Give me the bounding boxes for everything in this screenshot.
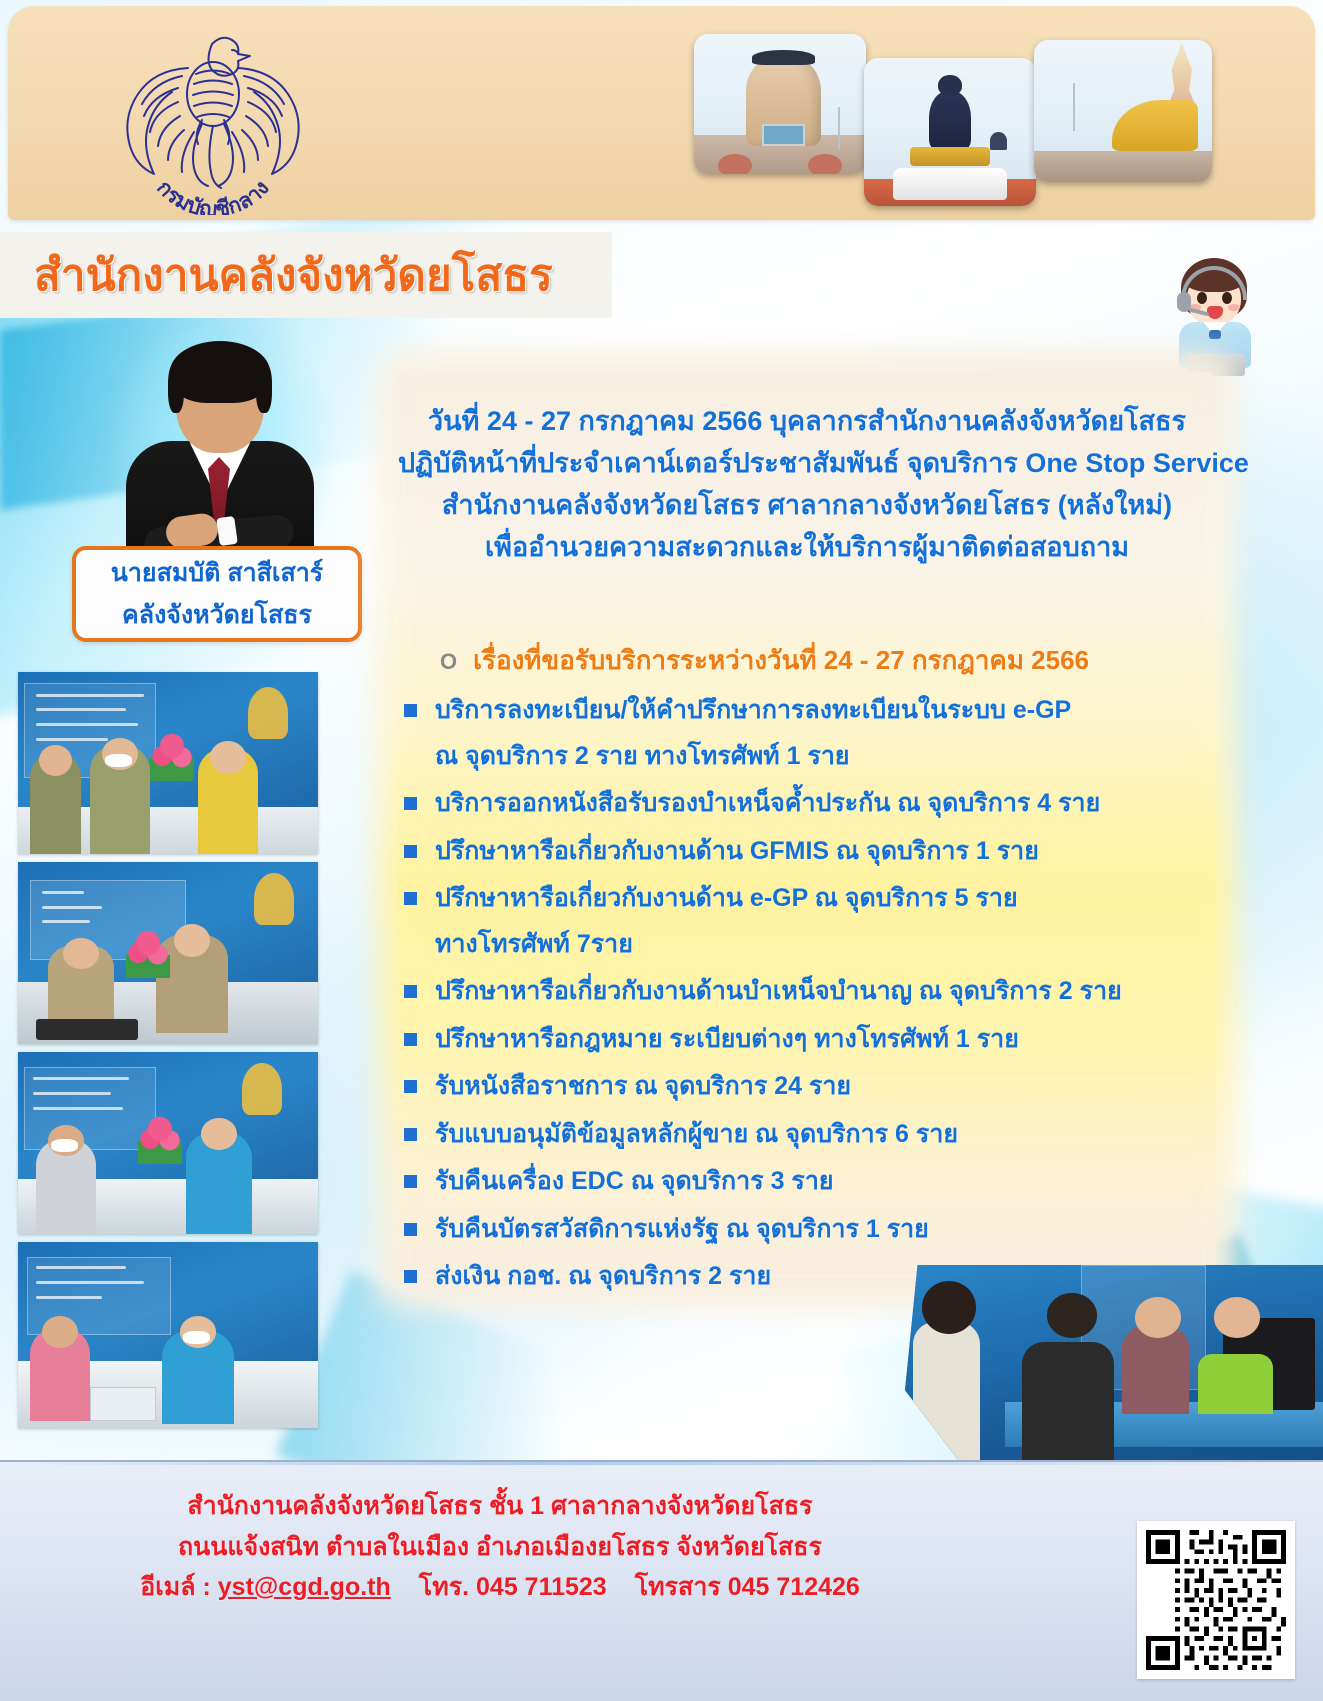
list-item — [18, 1052, 318, 1234]
page-title-plaque: สำนักงานคลังจังหวัดยโสธร — [0, 232, 612, 318]
list-item: ปรึกษาหารือเกี่ยวกับงานด้าน e-GP ณ จุดบร… — [404, 876, 1204, 967]
poster-root: กรมบัญชีกลาง — [0, 0, 1323, 1701]
list-item-label: ปรึกษาหารือเกี่ยวกับงานด้าน e-GP ณ จุดบร… — [435, 876, 1018, 967]
service-counter-photo-bottom-right — [905, 1265, 1323, 1467]
list-item — [18, 862, 318, 1044]
square-bullet-icon — [404, 704, 417, 717]
list-item-label: ปรึกษาหารือเกี่ยวกับงานด้าน GFMIS ณ จุดบ… — [435, 829, 1039, 875]
list-item: รับหนังสือราชการ ณ จุดบริการ 24 ราย — [404, 1064, 1204, 1110]
square-bullet-icon — [404, 1128, 417, 1141]
email-link[interactable]: yst@cgd.go.th — [218, 1573, 391, 1601]
intro-paragraph: วันที่ 24 - 27 กรกฎาคม 2566 บุคลากรสำนัก… — [398, 400, 1216, 568]
email-label: อีเมล์ : — [140, 1573, 211, 1601]
footer-address-line-2: ถนนแจ้งสนิท ตำบลในเมือง อำเภอเมืองยโสธร … — [0, 1527, 1000, 1568]
list-item — [18, 1242, 318, 1428]
square-bullet-icon — [404, 797, 417, 810]
list-item: รับคืนบัตรสวัสดิการแห่งรัฐ ณ จุดบริการ 1… — [404, 1207, 1204, 1253]
square-bullet-icon — [404, 1033, 417, 1046]
garuda-emblem-icon: กรมบัญชีกลาง — [108, 20, 318, 215]
phone-number: โทร. 045 711523 — [419, 1567, 607, 1608]
service-line-1: บริการลงทะเบียน/ให้คำปรึกษาการลงทะเบียนใ… — [435, 696, 1071, 724]
landmark-photo-naga-pagoda — [1034, 40, 1212, 182]
services-heading-text: เรื่องที่ขอรับบริการระหว่างวันที่ 24 - 2… — [473, 640, 1089, 681]
list-item: บริการลงทะเบียน/ให้คำปรึกษาการลงทะเบียนใ… — [404, 688, 1204, 779]
list-item-label: ส่งเงิน กอช. ณ จุดบริการ 2 ราย — [435, 1254, 771, 1300]
list-item: ปรึกษาหารือเกี่ยวกับงานด้านบำเหน็จบำนาญ … — [404, 969, 1204, 1015]
officer-name: นายสมบัติ สาสีเสาร์ — [111, 553, 323, 593]
list-item: ปรึกษาหารือกฎหมาย ระเบียบต่างๆ ทางโทรศัพ… — [404, 1017, 1204, 1063]
footer-address-line-1: สำนักงานคลังจังหวัดยโสธร ชั้น 1 ศาลากลาง… — [0, 1486, 1000, 1527]
officer-portrait — [120, 345, 320, 577]
square-bullet-icon — [404, 1080, 417, 1093]
footer-contact-line: อีเมล์ : yst@cgd.go.th โทร. 045 711523 โ… — [0, 1567, 1000, 1608]
officer-name-card: นายสมบัติ สาสีเสาร์ คลังจังหวัดยโสธร — [72, 546, 362, 642]
svg-text:กรมบัญชีกลาง: กรมบัญชีกลาง — [152, 176, 274, 215]
email-group: อีเมล์ : yst@cgd.go.th — [140, 1567, 391, 1608]
list-item-label: บริการลงทะเบียน/ให้คำปรึกษาการลงทะเบียนใ… — [435, 688, 1071, 779]
square-bullet-icon — [404, 845, 417, 858]
services-list: บริการลงทะเบียน/ให้คำปรึกษาการลงทะเบียนใ… — [404, 688, 1204, 1302]
landmark-photo-deity-statue — [864, 58, 1036, 206]
list-item: รับแบบอนุมัติข้อมูลหลักผู้ขาย ณ จุดบริกา… — [404, 1112, 1204, 1158]
service-photo-column — [18, 672, 318, 1436]
list-item-label: บริการออกหนังสือรับรองบำเหน็จค้ำประกัน ณ… — [435, 781, 1100, 827]
list-item-label: รับแบบอนุมัติข้อมูลหลักผู้ขาย ณ จุดบริกา… — [435, 1112, 958, 1158]
list-item-label: ปรึกษาหารือกฎหมาย ระเบียบต่างๆ ทางโทรศัพ… — [435, 1017, 1019, 1063]
square-bullet-icon — [404, 1175, 417, 1188]
officer-position: คลังจังหวัดยโสธร — [122, 595, 312, 635]
service-line-2: ณ จุดบริการ 2 ราย ทางโทรศัพท์ 1 ราย — [435, 734, 1071, 780]
list-item: บริการออกหนังสือรับรองบำเหน็จค้ำประกัน ณ… — [404, 781, 1204, 827]
service-line-1: ปรึกษาหารือเกี่ยวกับงานด้าน e-GP ณ จุดบร… — [435, 884, 1018, 912]
page-title: สำนักงานคลังจังหวัดยโสธร — [34, 240, 553, 310]
footer-contact-block: สำนักงานคลังจังหวัดยโสธร ชั้น 1 ศาลากลาง… — [0, 1486, 1000, 1608]
intro-line: วันที่ 24 - 27 กรกฎาคม 2566 บุคลากรสำนัก… — [398, 400, 1216, 442]
list-item — [18, 672, 318, 854]
service-line-2: ทางโทรศัพท์ 7ราย — [435, 922, 1018, 968]
square-bullet-icon — [404, 892, 417, 905]
footer: สำนักงานคลังจังหวัดยโสธร ชั้น 1 ศาลากลาง… — [0, 1460, 1323, 1701]
list-item-label: รับคืนบัตรสวัสดิการแห่งรัฐ ณ จุดบริการ 1… — [435, 1207, 929, 1253]
header-band: กรมบัญชีกลาง — [8, 6, 1315, 220]
intro-line: เพื่ออำนวยความสะดวกและให้บริการผู้มาติดต… — [398, 526, 1216, 568]
list-item: รับคืนเครื่อง EDC ณ จุดบริการ 3 ราย — [404, 1159, 1204, 1205]
landmark-photo-strip — [688, 28, 1248, 208]
services-section-heading: O เรื่องที่ขอรับบริการระหว่างวันที่ 24 -… — [440, 640, 1200, 681]
intro-line: ปฏิบัติหน้าที่ประจำเคาน์เตอร์ประชาสัมพัน… — [398, 442, 1216, 484]
intro-line: สำนักงานคลังจังหวัดยโสธร ศาลากลางจังหวัด… — [398, 484, 1216, 526]
square-bullet-icon — [404, 1270, 417, 1283]
square-bullet-icon — [404, 985, 417, 998]
fax-number: โทรสาร 045 712426 — [635, 1567, 860, 1608]
circle-bullet-icon: O — [440, 651, 457, 673]
square-bullet-icon — [404, 1223, 417, 1236]
list-item-label: รับหนังสือราชการ ณ จุดบริการ 24 ราย — [435, 1064, 851, 1110]
list-item: ปรึกษาหารือเกี่ยวกับงานด้าน GFMIS ณ จุดบ… — [404, 829, 1204, 875]
list-item-label: รับคืนเครื่อง EDC ณ จุดบริการ 3 ราย — [435, 1159, 834, 1205]
list-item-label: ปรึกษาหารือเกี่ยวกับงานด้านบำเหน็จบำนาญ … — [435, 969, 1122, 1015]
landmark-photo-toad-museum — [694, 34, 866, 174]
qr-code[interactable] — [1137, 1521, 1295, 1679]
